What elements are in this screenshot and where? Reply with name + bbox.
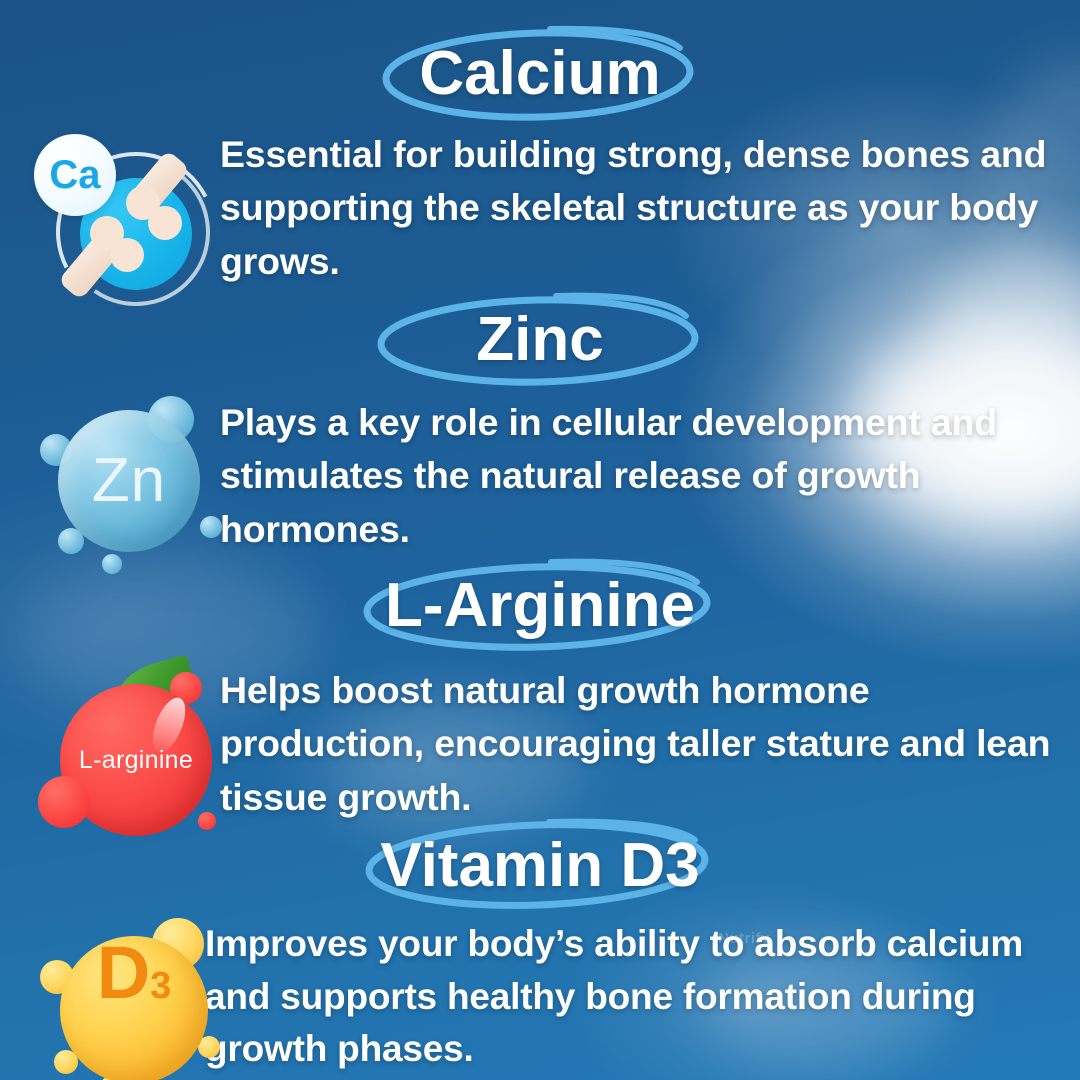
arginine-symbol-label: L-arginine — [79, 748, 193, 773]
zinc-molecule-icon: Zn — [40, 396, 225, 576]
zinc-sphere: Zn — [58, 410, 200, 552]
section-l-arginine: L-Arginine L-arginine Helps boost natura… — [0, 558, 1080, 824]
zinc-bubble — [200, 516, 222, 538]
section-vitamin-d3: Vitamin D3 D 3 Improves your body’s abil… — [0, 818, 1080, 1076]
calcium-symbol-label: Ca — [49, 155, 100, 195]
vitamin-d3-droplet-icon: D 3 — [40, 918, 230, 1080]
l-arginine-capsule-icon: L-arginine — [38, 664, 228, 844]
calcium-title: Calcium — [419, 43, 660, 105]
l-arginine-title-block: L-Arginine — [0, 558, 1080, 654]
vitamin-d3-title-block: Vitamin D3 — [0, 818, 1080, 914]
l-arginine-title: L-Arginine — [385, 575, 695, 637]
zinc-icon-column: Zn — [0, 396, 220, 556]
zinc-title-block: Zinc — [0, 292, 1080, 388]
vitamin-d3-icon-column: D 3 — [0, 918, 205, 1076]
l-arginine-row: L-arginine Helps boost natural growth ho… — [0, 664, 1080, 824]
zinc-symbol-label: Zn — [92, 450, 166, 512]
vitamin-d3-row: D 3 Improves your body’s ability to abso… — [0, 918, 1080, 1076]
d3-symbol-subscript: 3 — [150, 967, 171, 1005]
calcium-symbol-bubble: Ca — [34, 134, 116, 216]
d3-symbol-label: D — [97, 936, 150, 1010]
watermark-label: Nutrify — [718, 930, 770, 947]
zinc-title: Zinc — [476, 309, 603, 371]
calcium-row: Ca Essential for building strong, dense … — [0, 128, 1080, 288]
bone-knob — [148, 206, 182, 240]
section-calcium: Calcium Ca Essentia — [0, 26, 1080, 288]
zinc-description: Plays a key role in cellular development… — [220, 396, 1080, 556]
calcium-bone-icon: Ca — [32, 128, 222, 318]
zinc-row: Zn Plays a key role in cellular developm… — [0, 396, 1080, 556]
vitamin-d3-description: Improves your body’s ability to absorb c… — [205, 918, 1080, 1076]
l-arginine-icon-column: L-arginine — [0, 664, 220, 824]
vitamin-d3-title: Vitamin D3 — [380, 835, 699, 897]
calcium-title-block: Calcium — [0, 26, 1080, 122]
bone-knob — [110, 238, 144, 272]
d3-sphere: D 3 — [60, 936, 208, 1080]
section-zinc: Zinc Zn Plays a key role in cellular dev… — [0, 292, 1080, 556]
calcium-description: Essential for building strong, dense bon… — [220, 128, 1080, 288]
infographic-canvas: Calcium Ca Essentia — [0, 0, 1080, 1080]
l-arginine-description: Helps boost natural growth hormone produ… — [220, 664, 1080, 824]
calcium-icon-column: Ca — [0, 128, 220, 288]
